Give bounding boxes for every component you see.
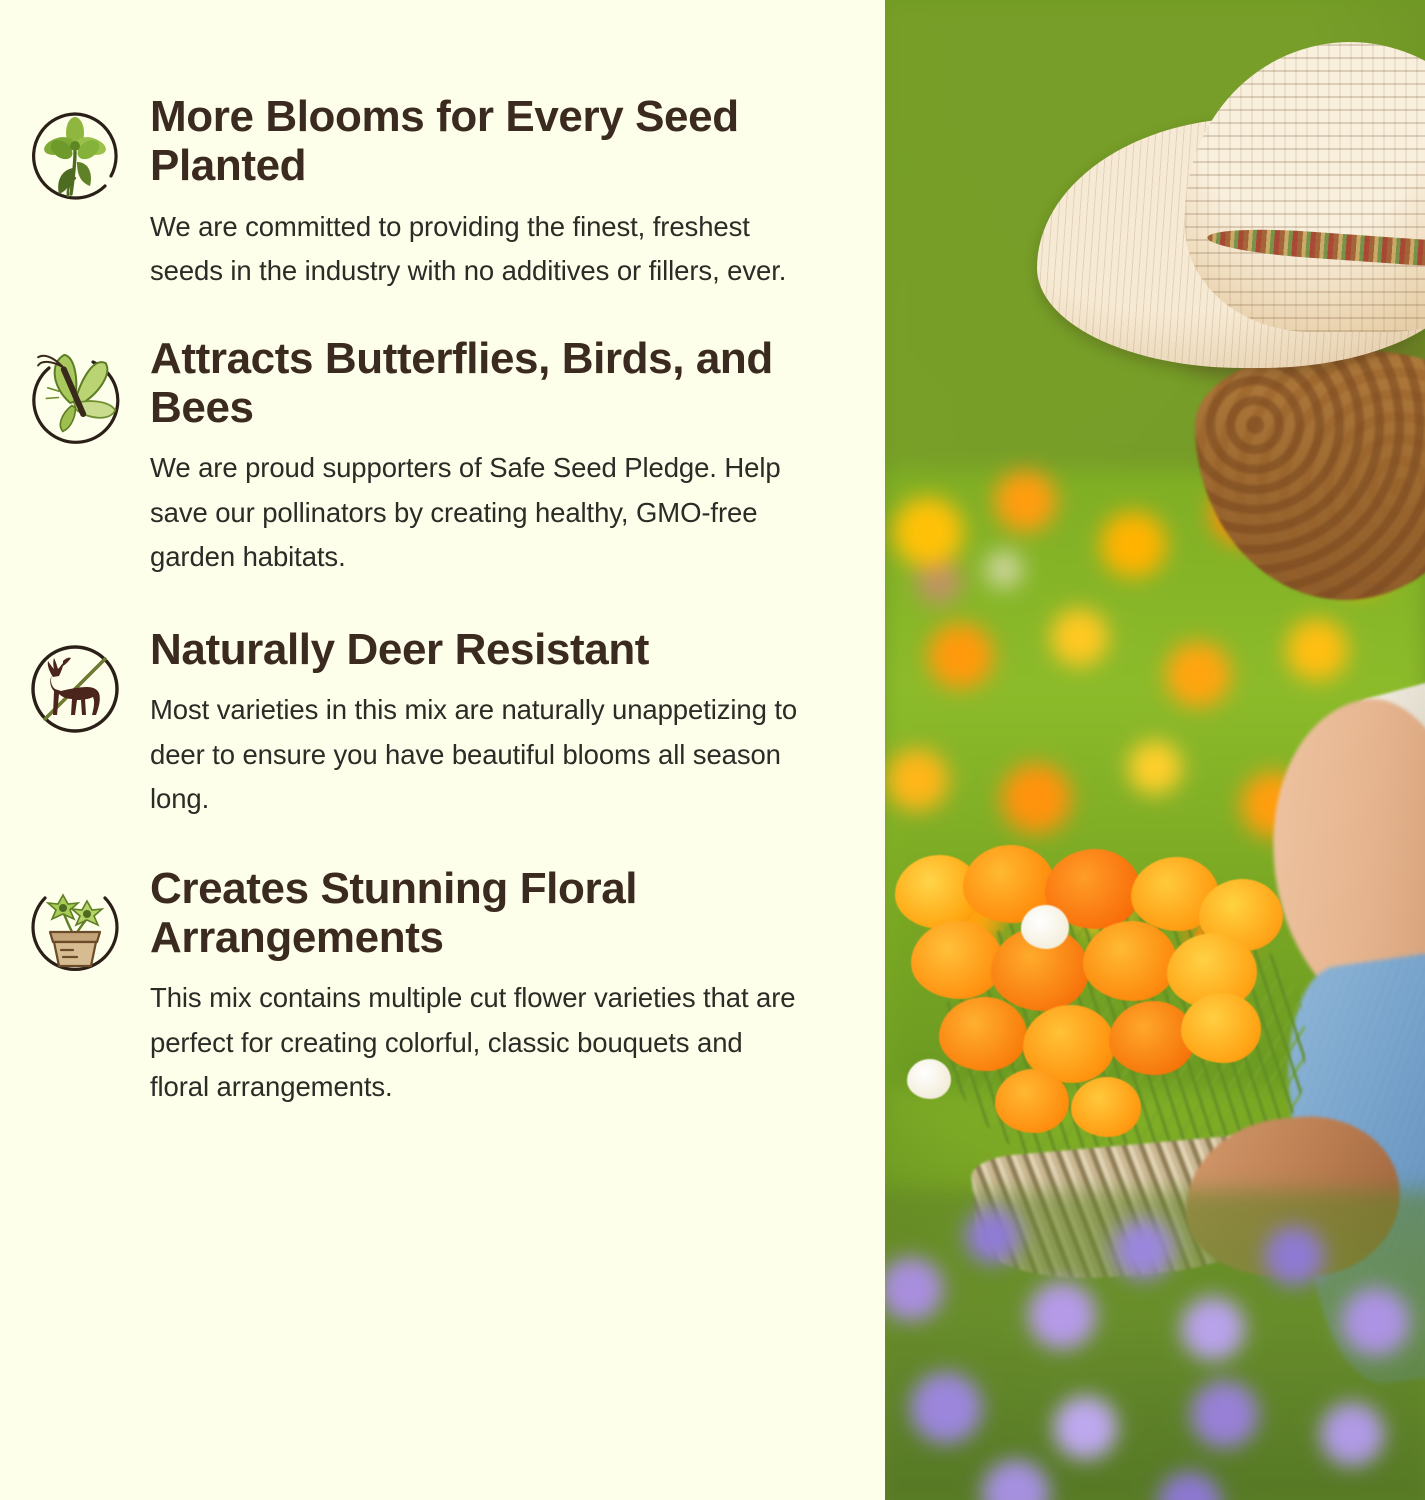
feature-heading: Attracts Butterflies, Birds, and Bees bbox=[150, 334, 805, 433]
feature-infographic: More Blooms for Every Seed Planted We ar… bbox=[0, 0, 1425, 1500]
feature-block-more-blooms: More Blooms for Every Seed Planted We ar… bbox=[0, 92, 845, 294]
feature-block-floral-arrangements: Creates Stunning Floral Arrangements Thi… bbox=[0, 864, 845, 1110]
lifestyle-photo bbox=[885, 0, 1425, 1500]
feature-text-floral-arrangements: Creates Stunning Floral Arrangements Thi… bbox=[150, 864, 845, 1110]
feature-text-more-blooms: More Blooms for Every Seed Planted We ar… bbox=[150, 92, 845, 294]
feature-block-attracts-pollinators: Attracts Butterflies, Birds, and Bees We… bbox=[0, 334, 845, 580]
feature-body: We are committed to providing the finest… bbox=[150, 205, 805, 294]
feature-heading: More Blooms for Every Seed Planted bbox=[150, 92, 805, 191]
feature-heading: Naturally Deer Resistant bbox=[150, 625, 805, 674]
potted-flowers-in-circle-icon bbox=[0, 864, 150, 980]
feature-body: We are proud supporters of Safe Seed Ple… bbox=[150, 446, 805, 580]
feature-text-attracts-pollinators: Attracts Butterflies, Birds, and Bees We… bbox=[150, 334, 845, 580]
feature-heading: Creates Stunning Floral Arrangements bbox=[150, 864, 805, 963]
purple-wildflowers-foreground bbox=[885, 1190, 1425, 1500]
butterfly-in-circle-icon bbox=[0, 334, 150, 450]
feature-text-deer-resistant: Naturally Deer Resistant Most varieties … bbox=[150, 625, 845, 822]
no-deer-icon bbox=[0, 625, 150, 741]
flower-in-circle-icon bbox=[0, 92, 150, 208]
feature-body: Most varieties in this mix are naturally… bbox=[150, 688, 805, 822]
feature-body: This mix contains multiple cut flower va… bbox=[150, 976, 805, 1110]
features-column: More Blooms for Every Seed Planted We ar… bbox=[0, 0, 885, 1500]
feature-block-deer-resistant: Naturally Deer Resistant Most varieties … bbox=[0, 625, 845, 822]
